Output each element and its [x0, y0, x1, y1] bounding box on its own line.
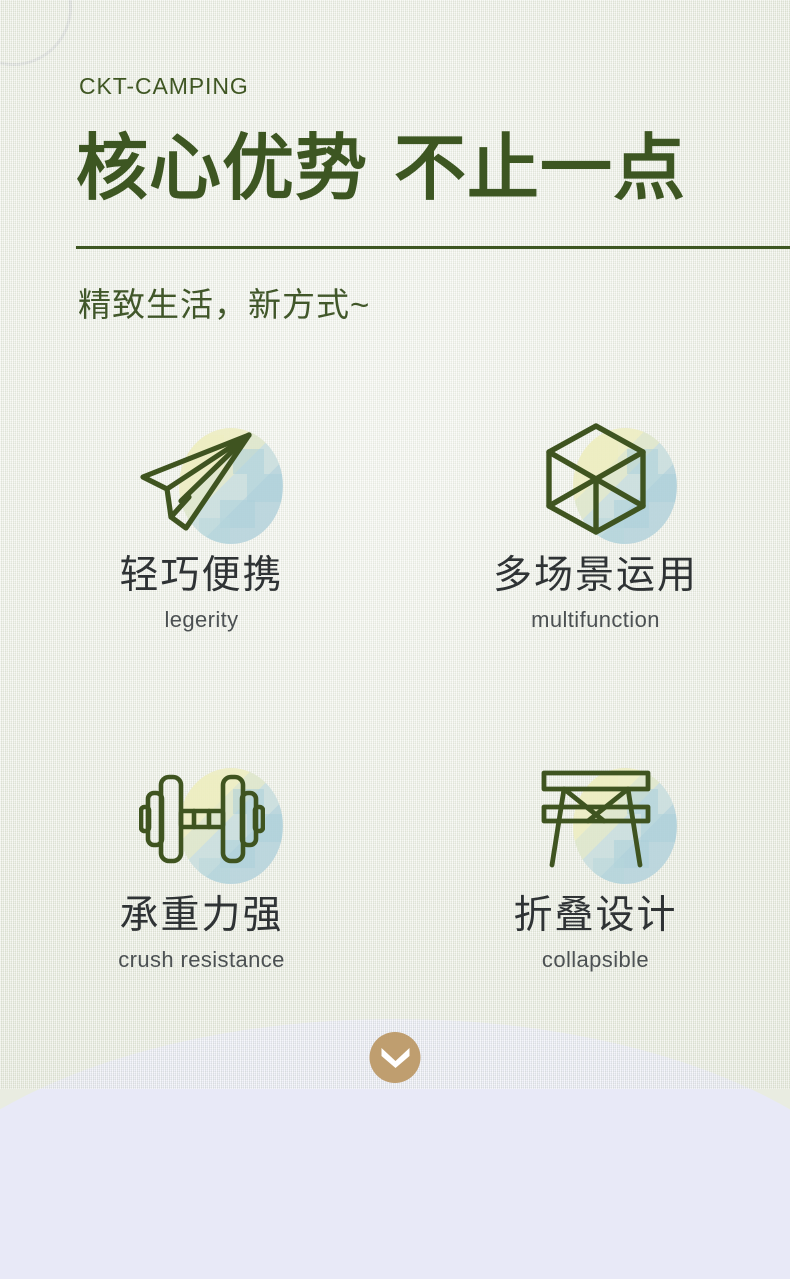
feature-item-multifunction: 多场景运用 multifunction — [395, 420, 790, 760]
feature-title-en: multifunction — [531, 607, 660, 633]
feature-title-en: collapsible — [542, 947, 649, 973]
chevron-down-icon — [381, 1048, 409, 1068]
feature-icon-wrap — [511, 760, 681, 878]
feature-item-crush-resistance: 承重力强 crush resistance — [0, 760, 395, 1020]
feature-title-cn: 承重力强 — [119, 894, 283, 938]
page-title-part-2: 不止一点 — [394, 126, 686, 210]
product-feature-page: CKT-CAMPING 核心优势不止一点 精致生活，新方式~ — [0, 0, 790, 1089]
dumbbell-icon — [139, 769, 265, 869]
paper-plane-icon — [137, 425, 267, 533]
page-title-part-1: 核心优势 — [76, 126, 368, 210]
feature-title-cn: 多场景运用 — [493, 554, 698, 598]
feature-title-cn: 轻巧便携 — [119, 554, 283, 598]
feature-title-cn: 折叠设计 — [513, 894, 677, 938]
feature-item-legerity: 轻巧便携 legerity — [0, 420, 395, 760]
brand-name: CKT-CAMPING — [79, 73, 249, 100]
feature-icon-wrap — [117, 420, 287, 538]
feature-grid: 轻巧便携 legerity — [0, 420, 790, 1020]
feature-icon-wrap — [511, 420, 681, 538]
feature-title-en: legerity — [164, 607, 238, 633]
feature-icon-wrap — [117, 760, 287, 878]
feature-item-collapsible: 折叠设计 collapsible — [395, 760, 790, 1020]
page-subtitle: 精致生活，新方式~ — [78, 278, 370, 326]
feature-row: 轻巧便携 legerity — [0, 420, 790, 760]
feature-title-en: crush resistance — [118, 947, 285, 973]
scroll-down-button[interactable] — [370, 1032, 421, 1083]
cube-hexagon-icon — [542, 421, 650, 537]
feature-row: 承重力强 crush resistance — [0, 760, 790, 1020]
picnic-table-icon — [538, 767, 654, 871]
divider — [76, 246, 790, 249]
page-title: 核心优势不止一点 — [76, 132, 686, 204]
